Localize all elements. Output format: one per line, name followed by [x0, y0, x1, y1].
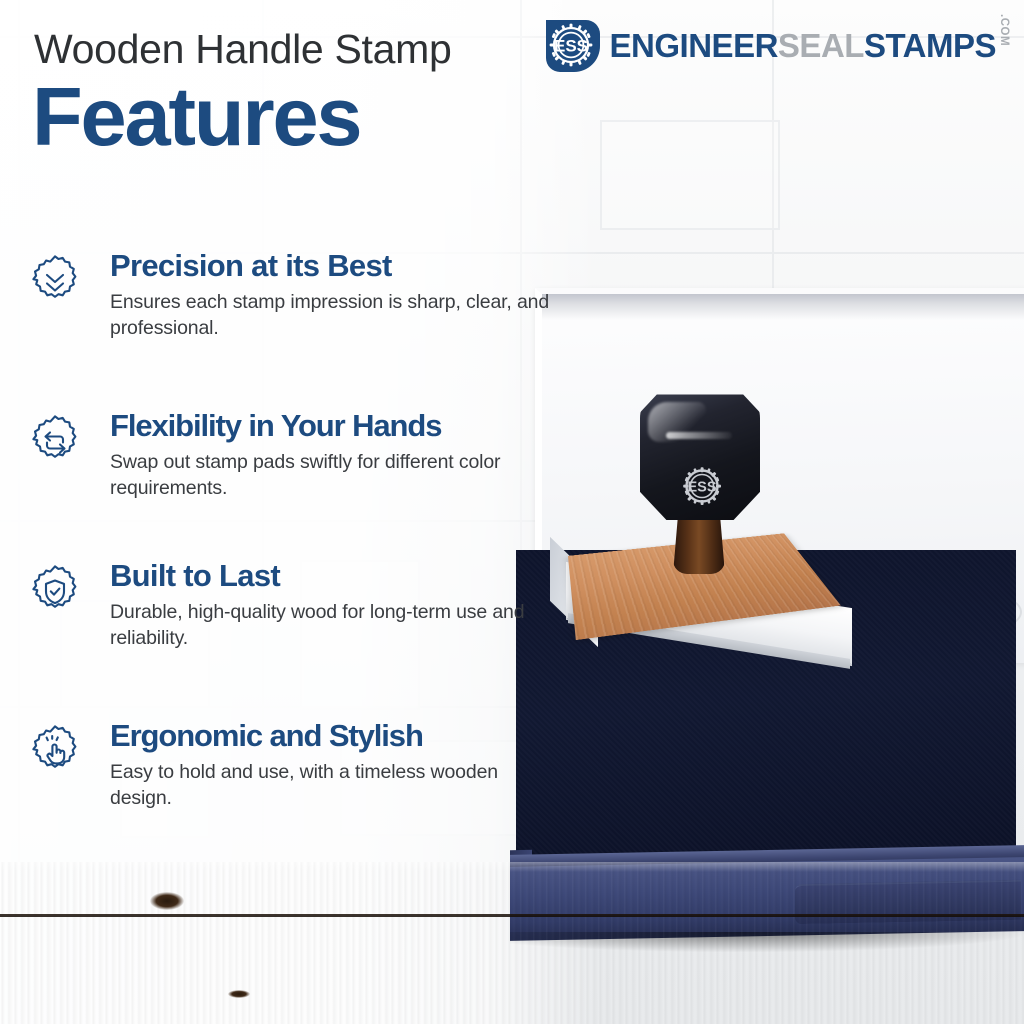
hand-tap-badge-icon	[24, 722, 86, 784]
shield-check-badge-icon	[24, 562, 86, 624]
feature-title: Ergonomic and Stylish	[110, 718, 423, 754]
feature-title: Built to Last	[110, 558, 280, 594]
feature-description: Ensures each stamp impression is sharp, …	[110, 290, 550, 341]
content-column: Wooden Handle Stamp Features Precision a…	[0, 0, 620, 1024]
feature-title: Flexibility in Your Hands	[110, 408, 441, 444]
infographic-canvas: ESS	[0, 0, 1024, 1024]
feature-description: Easy to hold and use, with a timeless wo…	[110, 760, 550, 811]
wordmark-seal: SEAL	[778, 27, 864, 65]
feature-description: Swap out stamp pads swiftly for differen…	[110, 450, 550, 501]
wordmark-engineer: ENGINEER	[610, 27, 778, 65]
feature-title: Precision at its Best	[110, 248, 392, 284]
page-kicker: Wooden Handle Stamp	[34, 28, 451, 71]
chevron-double-down-badge-icon	[24, 252, 86, 314]
wordmark-dotcom: .COM	[998, 14, 1010, 46]
handle-logo-text: ESS	[687, 480, 716, 496]
wordmark-stamps: STAMPS	[864, 27, 996, 65]
feature-description: Durable, high-quality wood for long-term…	[110, 600, 550, 651]
swap-arrows-badge-icon	[24, 412, 86, 474]
page-title: Features	[32, 78, 360, 157]
handle-ess-gear-logo: ESS	[674, 458, 730, 514]
brand-wordmark: ENGINEER SEAL STAMPS .COM	[610, 25, 1010, 65]
